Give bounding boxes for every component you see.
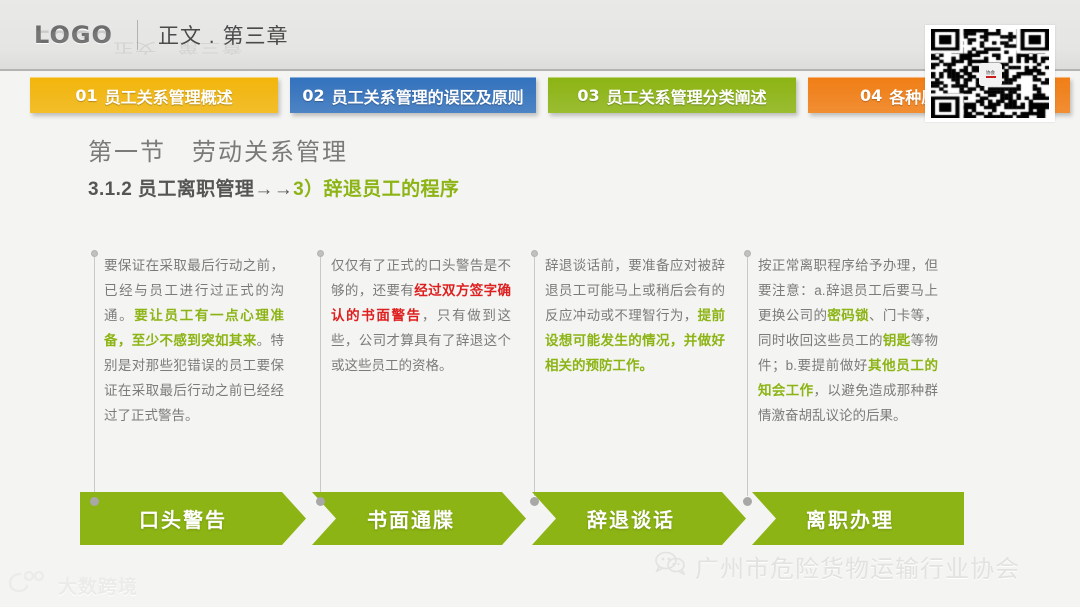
wechat-icon — [655, 551, 685, 582]
tab-number: 03 — [577, 86, 599, 105]
dashu-logo-icon — [8, 570, 50, 600]
tab-chapter-02[interactable]: 02 员工关系管理的误区及原则 — [290, 77, 536, 113]
text-column-4: 按正常离职程序给予办理，但要注意：a.辞退员工后要马上更换公司的密码锁、门卡等，… — [758, 253, 938, 428]
process-step-2[interactable]: 书面通牒 — [312, 492, 526, 545]
tab-label: 员工关系管理分类阐述 — [607, 84, 767, 108]
subsection-title-plain: 3.1.2 员工离职管理→→ — [88, 179, 293, 200]
connector-dot-bottom-2 — [316, 497, 325, 506]
connector-dot-top-3 — [531, 250, 538, 257]
section-title: 第一节 劳动关系管理 — [88, 132, 348, 167]
text-segment: 密码锁 — [827, 308, 869, 323]
tab-label: 员工关系管理的误区及原则 — [332, 84, 524, 108]
tab-chapter-01[interactable]: 01 员工关系管理概述 — [30, 77, 278, 113]
text-segment: 钥匙 — [883, 333, 911, 348]
connector-dot-top-2 — [317, 250, 324, 257]
process-step-label: 辞退谈话 — [587, 504, 675, 533]
text-column-1: 要保证在采取最后行动之前，已经与员工进行过正式的沟通。要让员工有一点心理准备，至… — [104, 253, 284, 428]
subsection-title-highlight: 3）辞退员工的程序 — [293, 179, 459, 200]
process-step-4[interactable]: 离职办理 — [752, 492, 964, 545]
header-content: LOGO 正文 . 第三章 — [34, 20, 288, 50]
header-divider — [137, 20, 138, 50]
connector-line-1 — [94, 253, 95, 496]
process-chevron-bar: 口头警告 书面通牒 辞退谈话 离职办理 — [80, 492, 964, 545]
tab-number: 04 — [860, 86, 882, 105]
connector-dot-bottom-4 — [743, 497, 752, 506]
watermark-brand: 大数跨境 — [8, 570, 138, 600]
watermark-brand-text: 大数跨境 — [58, 572, 138, 599]
process-step-label: 书面通牒 — [367, 504, 455, 533]
process-step-label: 离职办理 — [806, 504, 894, 533]
connector-dot-top-1 — [91, 250, 98, 257]
process-step-3[interactable]: 辞退谈话 — [532, 492, 746, 545]
connector-line-4 — [747, 253, 748, 496]
logo: LOGO — [34, 21, 113, 49]
connector-line-2 — [320, 253, 321, 496]
tab-number: 02 — [302, 86, 324, 105]
header-band: LOGO 正文 . 第三章 LOGO 正文 . 第三章 — [0, 0, 1080, 71]
process-step-1[interactable]: 口头警告 — [80, 492, 306, 545]
text-column-3: 辞退谈话前，要准备应对被辞退员工可能马上或稍后会有的反应冲动或不理智行为，提前设… — [545, 253, 725, 378]
subsection-title: 3.1.2 员工离职管理→→3）辞退员工的程序 — [88, 174, 459, 201]
qr-center-logo-icon: 协会 — [979, 63, 1002, 86]
connector-dot-bottom-3 — [530, 497, 539, 506]
tab-number: 01 — [75, 86, 97, 105]
text-column-2: 仅仅有了正式的口头警告是不够的，还要有经过双方签字确认的书面警告，只有做到这些，… — [331, 253, 511, 378]
watermark-association-text: 广州市危险货物运输行业协会 — [695, 549, 1020, 584]
connector-line-3 — [534, 253, 535, 496]
connector-dot-top-4 — [744, 250, 751, 257]
tab-label: 员工关系管理概述 — [105, 84, 233, 108]
watermark-association: 广州市危险货物运输行业协会 — [655, 549, 1020, 584]
chapter-tabbar: 01 员工关系管理概述 02 员工关系管理的误区及原则 03 员工关系管理分类阐… — [0, 71, 1080, 119]
connector-dot-bottom-1 — [90, 497, 99, 506]
process-step-label: 口头警告 — [139, 504, 227, 533]
tab-chapter-03[interactable]: 03 员工关系管理分类阐述 — [548, 77, 796, 113]
qr-code-overlay: 协会 — [925, 25, 1055, 122]
page-title: 正文 . 第三章 — [158, 20, 289, 50]
